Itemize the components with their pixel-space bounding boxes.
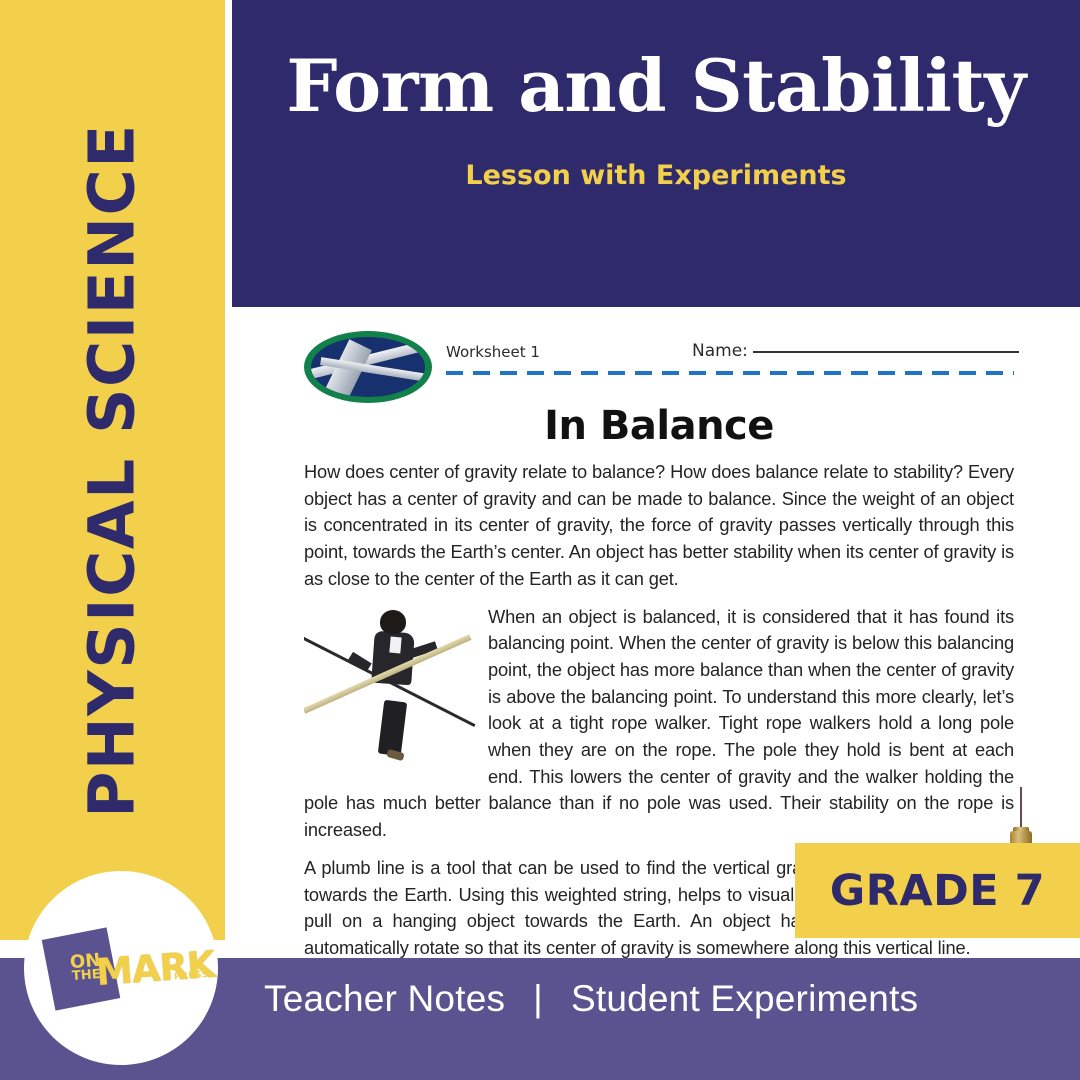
header-banner: Form and Stability Lesson with Experimen… <box>232 0 1080 307</box>
name-field-group: Name: <box>692 341 1019 361</box>
name-write-line[interactable] <box>753 351 1019 353</box>
walker-legs <box>378 700 407 756</box>
footer-labels: Teacher Notes | Student Experiments <box>264 978 918 1020</box>
brand-logo-mark: MARK <box>95 943 216 994</box>
brand-logo: ON THE MARK PRESS <box>24 871 218 1065</box>
tightrope-walker-image <box>304 606 476 771</box>
walker-shirt <box>389 636 401 653</box>
footer-student-experiments-label: Student Experiments <box>571 978 918 1020</box>
page-subtitle: Lesson with Experiments <box>465 160 846 191</box>
walker-head <box>380 610 406 634</box>
paragraph-1: How does center of gravity relate to bal… <box>304 459 1014 593</box>
worksheet-badge-icon <box>304 331 432 403</box>
worksheet-heading: In Balance <box>304 403 1014 449</box>
grade-badge-label: GRADE 7 <box>830 866 1045 916</box>
name-label: Name: <box>692 341 748 361</box>
sidebar-subject-label: PHYSICAL SCIENCE <box>81 123 144 817</box>
walker-shoe <box>386 749 405 761</box>
grade-badge: GRADE 7 <box>795 843 1080 938</box>
worksheet-number-label: Worksheet 1 <box>446 343 540 361</box>
dashed-divider <box>446 371 1014 375</box>
page-title: Form and Stability <box>286 48 1025 124</box>
worksheet-badge-inner <box>311 337 425 397</box>
footer-teacher-notes-label: Teacher Notes <box>264 978 505 1020</box>
worksheet-header-row: Worksheet 1 Name: <box>304 329 1014 407</box>
footer-separator: | <box>533 978 543 1020</box>
sidebar-subject-title: PHYSICAL SCIENCE <box>0 0 225 940</box>
ruler-icon <box>325 339 372 397</box>
